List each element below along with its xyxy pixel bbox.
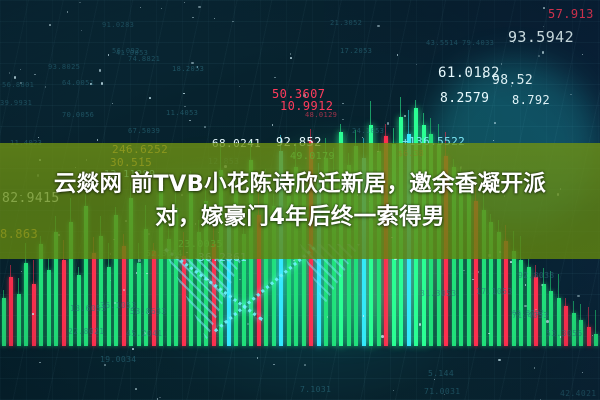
banner-image: 93.594261.018298.528.25798.79250.360710.… (0, 0, 600, 400)
headline-line-2: 对，嫁豪门4年后终一索得男 (155, 204, 445, 231)
headline-line-1: 云燚网 前TVB小花陈诗欣迁新居，邀余香凝开派 (54, 171, 546, 198)
headline-block: 云燚网 前TVB小花陈诗欣迁新居，邀余香凝开派 对，嫁豪门4年后终一索得男 (0, 143, 600, 259)
